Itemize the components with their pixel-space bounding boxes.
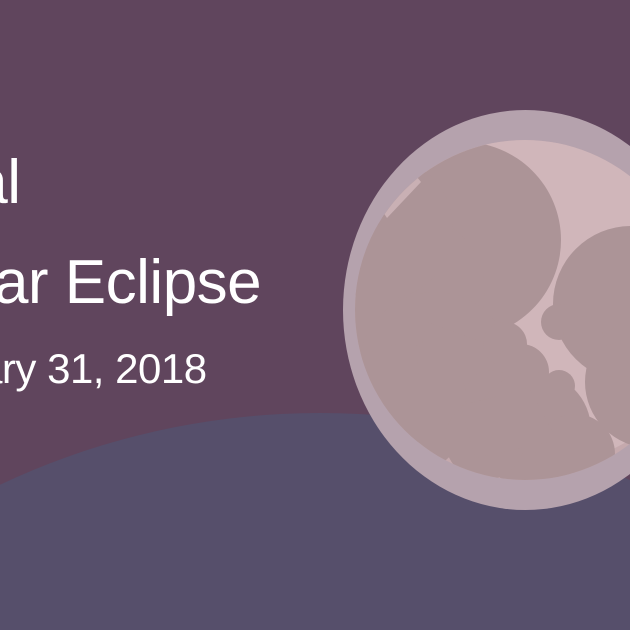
subtitle-date: January 31, 2018 (0, 344, 207, 394)
title-line-2: Lunar Eclipse (0, 248, 261, 318)
moon-illustration (343, 110, 630, 510)
eclipse-title-slide: Total Lunar Eclipse January 31, 2018 (0, 0, 630, 630)
limb-streak-left (347, 368, 361, 416)
moon-surface-features (343, 126, 630, 494)
crater-center-d (563, 316, 603, 356)
moon-graphic (343, 110, 630, 510)
title-line-1: Total (0, 148, 20, 218)
